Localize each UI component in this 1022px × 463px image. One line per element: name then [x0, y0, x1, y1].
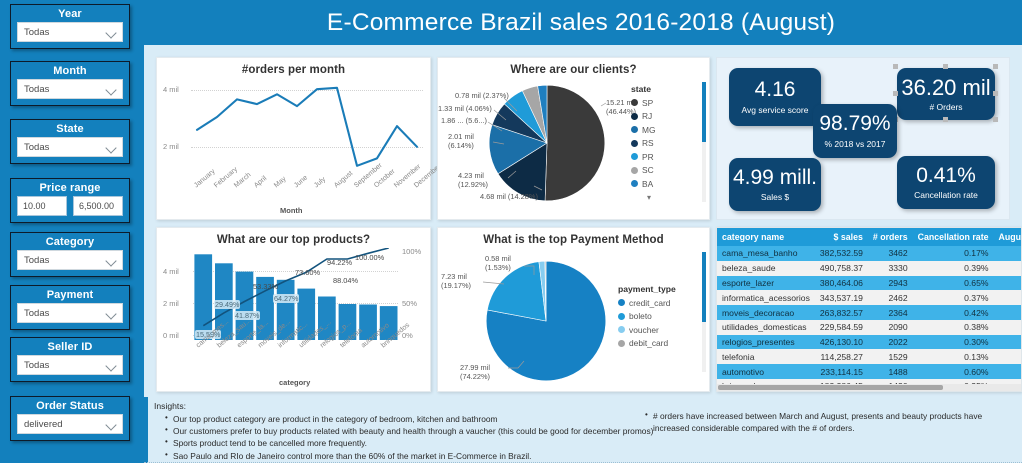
- cumulative-label: 100.00%: [355, 253, 384, 262]
- table-cell: relogios_presentes: [717, 335, 815, 350]
- price-max-input[interactable]: 6,500.00: [73, 196, 123, 216]
- slicer-category-title: Category: [11, 233, 129, 250]
- table-cell: automotivo: [717, 364, 815, 379]
- x-axis-title: category: [279, 378, 310, 387]
- th-august[interactable]: August 20: [994, 228, 1022, 246]
- payment-legend: payment_type credit_cardboletovoucherdeb…: [618, 284, 676, 348]
- legend-label: BA: [642, 179, 653, 189]
- legend-swatch-icon: [618, 340, 625, 347]
- table-cell: [994, 276, 1022, 291]
- slicer-month-dropdown[interactable]: Todas: [17, 79, 123, 99]
- kpi-orders[interactable]: 36.20 mil # Orders: [897, 68, 995, 120]
- table-cell: 0.17%: [913, 246, 994, 261]
- legend-scrollbar[interactable]: [702, 252, 706, 372]
- table-cell: [994, 305, 1022, 320]
- table-row[interactable]: automotivo233,114.1514880.60%: [717, 364, 1022, 379]
- table-cell: moveis_decoracao: [717, 305, 815, 320]
- th-orders[interactable]: # orders: [868, 228, 913, 246]
- slicer-payment-title: Payment: [11, 286, 129, 303]
- y-tick-2mil: 2 mil: [163, 142, 179, 151]
- category-table-grid: category name $ sales # orders Cancellat…: [717, 228, 1022, 392]
- insight-bullet: Sao Paulo and RIo de Janeiro control mor…: [164, 450, 654, 462]
- report-canvas: #orders per month 4 mil 2 mil JanuaryFeb…: [144, 45, 1022, 463]
- y-tick-4mil: 4 mil: [163, 85, 179, 94]
- legend-label: debit_card: [629, 338, 668, 348]
- slicer-seller-id-title: Seller ID: [11, 338, 129, 355]
- table-cell: 343,537.19: [815, 290, 868, 305]
- legend-swatch-icon: [631, 113, 638, 120]
- chevron-down-icon: [105, 27, 116, 38]
- table-cell: 233,114.15: [815, 364, 868, 379]
- table-row[interactable]: beleza_saude490,758.3733300.39%: [717, 261, 1022, 276]
- selection-handle[interactable]: [943, 64, 948, 69]
- legend-item-BA[interactable]: BA: [631, 179, 656, 189]
- selection-handle[interactable]: [993, 64, 998, 69]
- insights-left: Insights: Our top product category are p…: [154, 401, 654, 462]
- selection-handle[interactable]: [943, 117, 948, 122]
- table-cell: 2090: [868, 320, 913, 335]
- table-cell: [994, 320, 1022, 335]
- legend-item-MG[interactable]: MG: [631, 125, 656, 135]
- cumulative-label: 53.33%: [253, 282, 278, 291]
- legend-scrollbar[interactable]: [702, 82, 706, 202]
- price-min-value: 10.00: [18, 201, 46, 211]
- table-cell: 2022: [868, 335, 913, 350]
- table-cell: informatica_acessorios: [717, 290, 815, 305]
- legend-label: voucher: [629, 325, 659, 335]
- slicer-order-status[interactable]: Order Status delivered: [10, 396, 130, 441]
- table-row[interactable]: utilidades_domesticas229,584.5920900.38%: [717, 320, 1022, 335]
- table-cell: 426,130.10: [815, 335, 868, 350]
- slicer-price-range[interactable]: Price range 10.00 6,500.00: [10, 178, 130, 223]
- legend-item-voucher[interactable]: voucher: [618, 325, 676, 335]
- kpi-cancellation-rate-value: 0.41%: [916, 165, 976, 187]
- legend-title: payment_type: [618, 284, 676, 294]
- slicer-state-title: State: [11, 120, 129, 137]
- kpi-2018-vs-2017-value: 98.79%: [819, 113, 890, 135]
- slicer-order-status-dropdown[interactable]: delivered: [17, 414, 123, 434]
- table-cell: 490,758.37: [815, 261, 868, 276]
- clients-legend: state SPRJMGRSPRSCBA ▾: [631, 84, 656, 202]
- legend-swatch-icon: [631, 180, 638, 187]
- insights-panel: Insights: Our top product category are p…: [144, 397, 1022, 463]
- kpi-orders-value: 36.20 mil: [901, 76, 990, 99]
- pie-leader-lines: [438, 58, 711, 221]
- table-cell: 2943: [868, 276, 913, 291]
- table-cell: 0.65%: [913, 276, 994, 291]
- chart-payment-method[interactable]: What is the top Payment Method 0.58 mil(…: [437, 227, 710, 392]
- selection-handle[interactable]: [893, 91, 898, 96]
- table-row[interactable]: informatica_acessorios343,537.1924620.37…: [717, 290, 1022, 305]
- legend-label: credit_card: [629, 298, 670, 308]
- table-row[interactable]: cama_mesa_banho382,532.5934620.17%: [717, 246, 1022, 261]
- price-max-value: 6,500.00: [74, 201, 114, 211]
- table-cell: [994, 290, 1022, 305]
- y2-tick-100: 100%: [402, 247, 421, 256]
- chart-orders-per-month[interactable]: #orders per month 4 mil 2 mil JanuaryFeb…: [156, 57, 431, 220]
- y-tick-0mil: 0 mil: [163, 331, 179, 340]
- legend-item-SC[interactable]: SC: [631, 165, 656, 175]
- chart-orders-per-month-title: #orders per month: [157, 58, 430, 76]
- legend-item-RS[interactable]: RS: [631, 138, 656, 148]
- dashboard-header: E-Commerce Brazil sales 2016-2018 (Augus…: [140, 0, 1022, 45]
- slicer-seller-id-value: Todas: [18, 360, 49, 371]
- selection-handle[interactable]: [993, 91, 998, 96]
- x-tick-label: July: [313, 176, 327, 189]
- table-cell: 2364: [868, 305, 913, 320]
- category-table[interactable]: category name $ sales # orders Cancellat…: [716, 227, 1022, 392]
- table-cell: [994, 335, 1022, 350]
- slicer-year[interactable]: Year Todas: [10, 4, 130, 49]
- kpi-avg-service-score-label: Avg service score: [742, 105, 809, 115]
- legend-more-icon[interactable]: ▾: [647, 193, 656, 202]
- table-cell: 0.42%: [913, 305, 994, 320]
- slicer-category[interactable]: Category Todas: [10, 232, 130, 277]
- cumulative-label: 94.22%: [327, 258, 352, 267]
- slicer-payment-value: Todas: [18, 308, 49, 319]
- kpi-2018-vs-2017-label: % 2018 vs 2017: [825, 139, 886, 149]
- table-cell: 0.39%: [913, 261, 994, 276]
- table-cell: 380,464.06: [815, 276, 868, 291]
- legend-item-PR[interactable]: PR: [631, 152, 656, 162]
- slicer-year-value: Todas: [18, 27, 49, 38]
- chart-where-are-our-clients[interactable]: Where are our clients? 15.21 mil(46.44%)…: [437, 57, 710, 220]
- table-cell: 0.60%: [913, 364, 994, 379]
- chevron-down-icon: [105, 308, 116, 319]
- cumulative-label: 88.04%: [333, 276, 358, 285]
- legend-label: SP: [642, 98, 653, 108]
- slicer-month-title: Month: [11, 62, 129, 79]
- table-cell: [994, 349, 1022, 364]
- legend-swatch-icon: [631, 126, 638, 133]
- price-min-input[interactable]: 10.00: [17, 196, 67, 216]
- legend-item-boleto[interactable]: boleto: [618, 311, 676, 321]
- legend-item-credit_card[interactable]: credit_card: [618, 298, 676, 308]
- legend-label: MG: [642, 125, 656, 135]
- selection-handle[interactable]: [893, 64, 898, 69]
- slicer-month-value: Todas: [18, 84, 49, 95]
- price-range-inputs: 10.00 6,500.00: [17, 196, 123, 216]
- legend-title: state: [631, 84, 656, 94]
- table-cell: esporte_lazer: [717, 276, 815, 291]
- legend-item-debit_card[interactable]: debit_card: [618, 338, 676, 348]
- kpi-avg-service-score[interactable]: 4.16 Avg service score: [729, 68, 821, 126]
- selection-handle[interactable]: [993, 117, 998, 122]
- legend-swatch-icon: [631, 153, 638, 160]
- slicer-price-range-title: Price range: [11, 179, 129, 196]
- kpi-2018-vs-2017[interactable]: 98.79% % 2018 vs 2017: [813, 104, 897, 158]
- table-cell: utilidades_domesticas: [717, 320, 815, 335]
- th-cancellation-rate[interactable]: Cancellation rate: [913, 228, 994, 246]
- legend-label: RS: [642, 138, 654, 148]
- table-cell: 1529: [868, 349, 913, 364]
- table-row[interactable]: esporte_lazer380,464.0629430.65%: [717, 276, 1022, 291]
- table-cell: 3462: [868, 246, 913, 261]
- table-cell: 0.30%: [913, 335, 994, 350]
- legend-swatch-icon: [618, 313, 625, 320]
- table-cell: 3330: [868, 261, 913, 276]
- cumulative-label: 73.60%: [295, 268, 320, 277]
- y-tick-2mil: 2 mil: [163, 299, 179, 308]
- filter-sidebar: Year Todas Month Todas State Todas Price…: [0, 0, 140, 463]
- table-row[interactable]: moveis_decoracao263,832.5723640.42%: [717, 305, 1022, 320]
- table-cell: [994, 246, 1022, 261]
- table-cell: 382,532.59: [815, 246, 868, 261]
- y-tick-4mil: 4 mil: [163, 267, 179, 276]
- kpi-sales-value: 4.99 mill.: [733, 167, 817, 189]
- slicer-payment-dropdown[interactable]: Todas: [17, 303, 123, 323]
- insights-right: # orders have increased between March an…: [644, 410, 1012, 434]
- insight-bullet: # orders have increased between March an…: [644, 410, 1012, 434]
- kpi-avg-service-score-value: 4.16: [755, 79, 796, 101]
- x-axis-title: Month: [280, 206, 303, 215]
- legend-item-SP[interactable]: SP: [631, 98, 656, 108]
- orders-per-month-line: [191, 78, 425, 178]
- legend-swatch-icon: [631, 167, 638, 174]
- table-cell: telefonia: [717, 349, 815, 364]
- insight-bullet: Our customers prefer to buy products rel…: [164, 425, 654, 437]
- chevron-down-icon: [105, 255, 116, 266]
- table-row[interactable]: telefonia114,258.2715290.13%: [717, 349, 1022, 364]
- y2-tick-50: 50%: [402, 299, 417, 308]
- table-horizontal-scrollbar[interactable]: [717, 384, 1021, 391]
- legend-item-RJ[interactable]: RJ: [631, 111, 656, 121]
- chevron-down-icon: [105, 84, 116, 95]
- legend-label: SC: [642, 165, 654, 175]
- th-sales[interactable]: $ sales: [815, 228, 868, 246]
- table-cell: 1488: [868, 364, 913, 379]
- table-cell: [994, 364, 1022, 379]
- slicer-state-dropdown[interactable]: Todas: [17, 137, 123, 157]
- insight-bullet: Our top product category are product in …: [164, 413, 654, 425]
- slicer-month[interactable]: Month Todas: [10, 61, 130, 106]
- legend-swatch-icon: [631, 99, 638, 106]
- table-cell: cama_mesa_banho: [717, 246, 815, 261]
- slicer-state-value: Todas: [18, 142, 49, 153]
- slicer-year-title: Year: [11, 5, 129, 22]
- legend-swatch-icon: [631, 140, 638, 147]
- legend-label: boleto: [629, 311, 652, 321]
- insights-accent-bar: [144, 397, 148, 463]
- chevron-down-icon: [105, 360, 116, 371]
- legend-label: PR: [642, 152, 654, 162]
- table-cell: [994, 261, 1022, 276]
- legend-label: RJ: [642, 111, 652, 121]
- slicer-payment[interactable]: Payment Todas: [10, 285, 130, 330]
- table-scroll-thumb[interactable]: [718, 385, 943, 390]
- page-title: E-Commerce Brazil sales 2016-2018 (Augus…: [140, 0, 1022, 45]
- table-cell: 0.38%: [913, 320, 994, 335]
- table-cell: 263,832.57: [815, 305, 868, 320]
- slicer-year-dropdown[interactable]: Todas: [17, 22, 123, 42]
- slicer-category-value: Todas: [18, 255, 49, 266]
- table-cell: 0.37%: [913, 290, 994, 305]
- kpi-sales[interactable]: 4.99 mill. Sales $: [729, 158, 821, 211]
- chevron-down-icon: [105, 419, 116, 430]
- table-cell: 0.13%: [913, 349, 994, 364]
- table-cell: 229,584.59: [815, 320, 868, 335]
- dashboard-root: Year Todas Month Todas State Todas Price…: [0, 0, 1022, 463]
- cumulative-label: 29.49%: [214, 300, 240, 309]
- chart-top-products-title: What are our top products?: [157, 228, 430, 246]
- chart-top-products[interactable]: What are our top products? 4 mil 2 mil 0…: [156, 227, 431, 392]
- table-cell: beleza_saude: [717, 261, 815, 276]
- slicer-order-status-title: Order Status: [11, 397, 129, 414]
- slicer-category-dropdown[interactable]: Todas: [17, 250, 123, 270]
- chevron-down-icon: [105, 142, 116, 153]
- table-row[interactable]: relogios_presentes426,130.1020220.30%: [717, 335, 1022, 350]
- kpi-panel: 4.16 Avg service score 36.20 mil # Order…: [716, 57, 1010, 220]
- bar-cama_mes...[interactable]: [194, 254, 212, 340]
- kpi-cancellation-rate[interactable]: 0.41% Cancellation rate: [897, 156, 995, 209]
- legend-swatch-icon: [618, 299, 625, 306]
- legend-swatch-icon: [618, 326, 625, 333]
- insight-bullet: Sports product tend to be cancelled more…: [164, 437, 654, 449]
- kpi-cancellation-rate-label: Cancellation rate: [914, 190, 978, 200]
- table-cell: 2462: [868, 290, 913, 305]
- table-header-row: category name $ sales # orders Cancellat…: [717, 228, 1022, 246]
- th-category-name[interactable]: category name: [717, 228, 815, 246]
- insights-heading: Insights:: [154, 401, 654, 411]
- kpi-sales-label: Sales $: [761, 192, 789, 202]
- slicer-seller-id-dropdown[interactable]: Todas: [17, 355, 123, 375]
- slicer-state[interactable]: State Todas: [10, 119, 130, 164]
- table-cell: 114,258.27: [815, 349, 868, 364]
- slicer-seller-id[interactable]: Seller ID Todas: [10, 337, 130, 382]
- cumulative-label: 64.27%: [273, 294, 299, 303]
- kpi-orders-label: # Orders: [929, 102, 962, 112]
- slicer-order-status-value: delivered: [18, 419, 63, 430]
